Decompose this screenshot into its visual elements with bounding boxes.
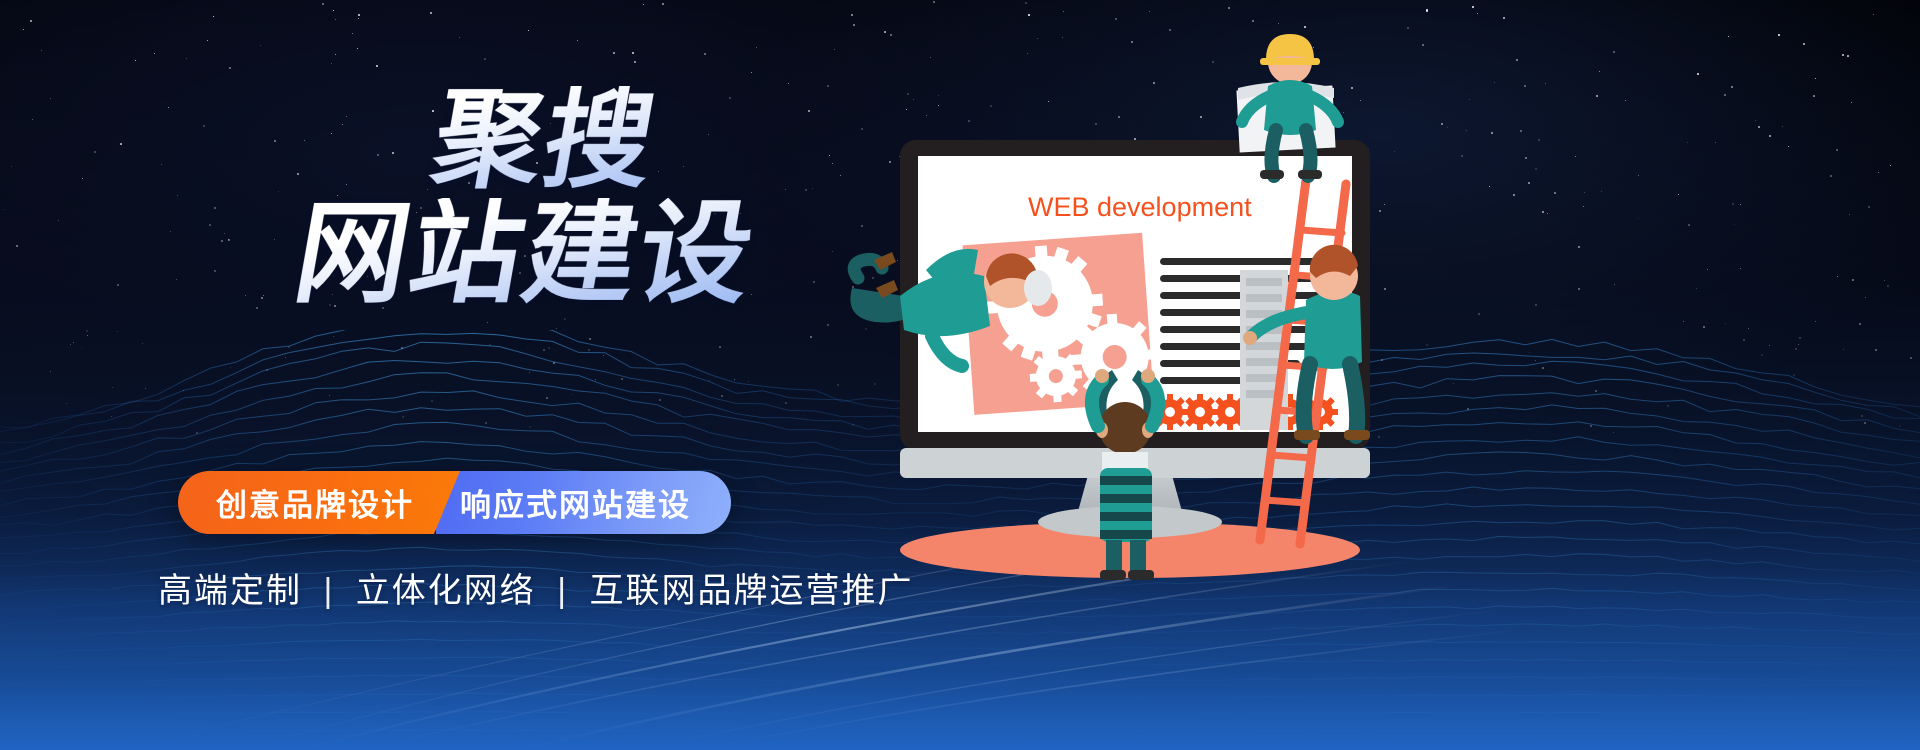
monitor-illustration: WEB development bbox=[840, 20, 1460, 600]
tag-pill-responsive-site-label: 响应式网站建设 bbox=[460, 480, 691, 525]
tag-pill-group: 创意品牌设计 响应式网站建设 bbox=[178, 471, 731, 534]
tag-pill-brand-design-label: 创意品牌设计 bbox=[216, 480, 414, 525]
headline-line-2: 网站建设 bbox=[165, 198, 885, 310]
headline-line-1: 聚搜 bbox=[165, 86, 884, 194]
tagline: 高端定制 | 立体化网络 | 互联网品牌运营推广 bbox=[158, 563, 914, 612]
tag-pill-responsive-site[interactable]: 响应式网站建设 bbox=[436, 471, 731, 534]
tag-pill-brand-design[interactable]: 创意品牌设计 bbox=[178, 471, 460, 534]
headline-block: 聚搜 网站建设 bbox=[175, 86, 875, 310]
screen-title: WEB development bbox=[1028, 192, 1252, 222]
tagline-separator-2: | bbox=[547, 572, 578, 610]
tagline-part-2: 立体化网络 bbox=[356, 572, 536, 610]
tagline-part-1: 高端定制 bbox=[158, 572, 302, 610]
hero-banner: 聚搜 网站建设 创意品牌设计 响应式网站建设 高端定制 | 立体化网络 | 互联… bbox=[0, 0, 1920, 750]
tagline-separator-1: | bbox=[313, 572, 344, 610]
